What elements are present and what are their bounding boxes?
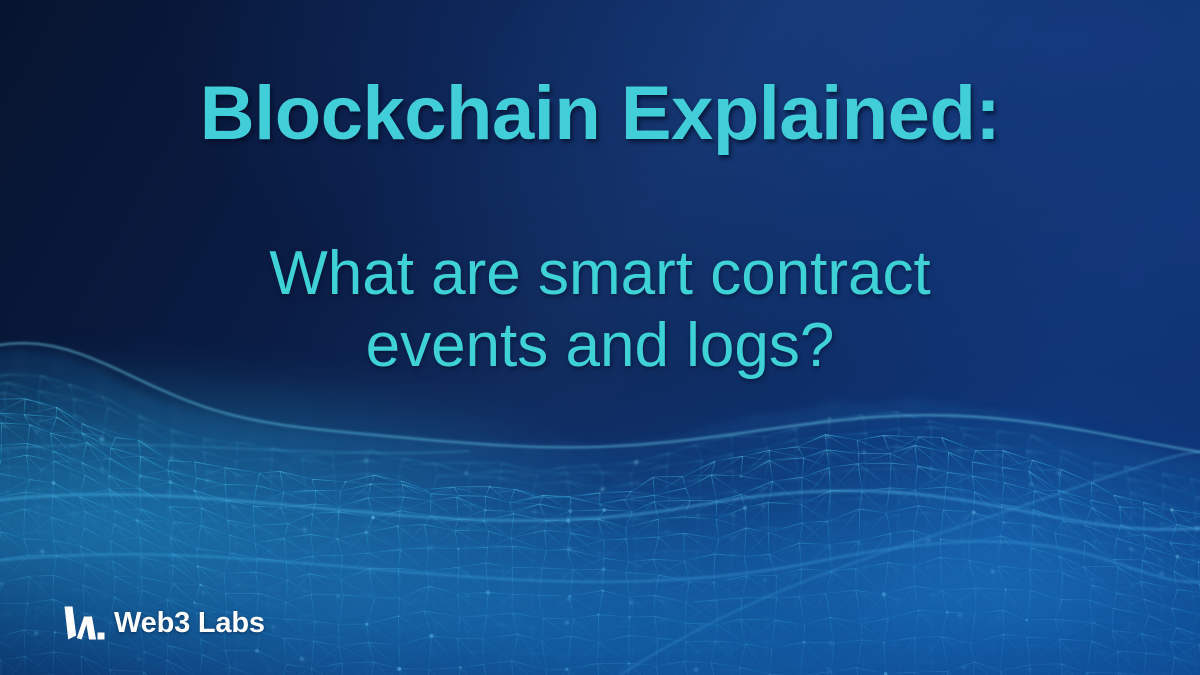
subtitle-line-1: What are smart contract [160,238,1040,310]
subtitle-line-2: events and logs? [160,310,1040,382]
slide-title: Blockchain Explained: [0,74,1200,153]
brand-name: Web3 Labs [114,607,265,640]
text-content: Blockchain Explained: What are smart con… [0,0,1200,675]
slide-canvas: Blockchain Explained: What are smart con… [0,0,1200,675]
brand-logo: Web3 Labs [63,604,265,642]
web3-labs-w-mark-icon [63,604,105,642]
slide-subtitle: What are smart contract events and logs? [160,238,1040,382]
